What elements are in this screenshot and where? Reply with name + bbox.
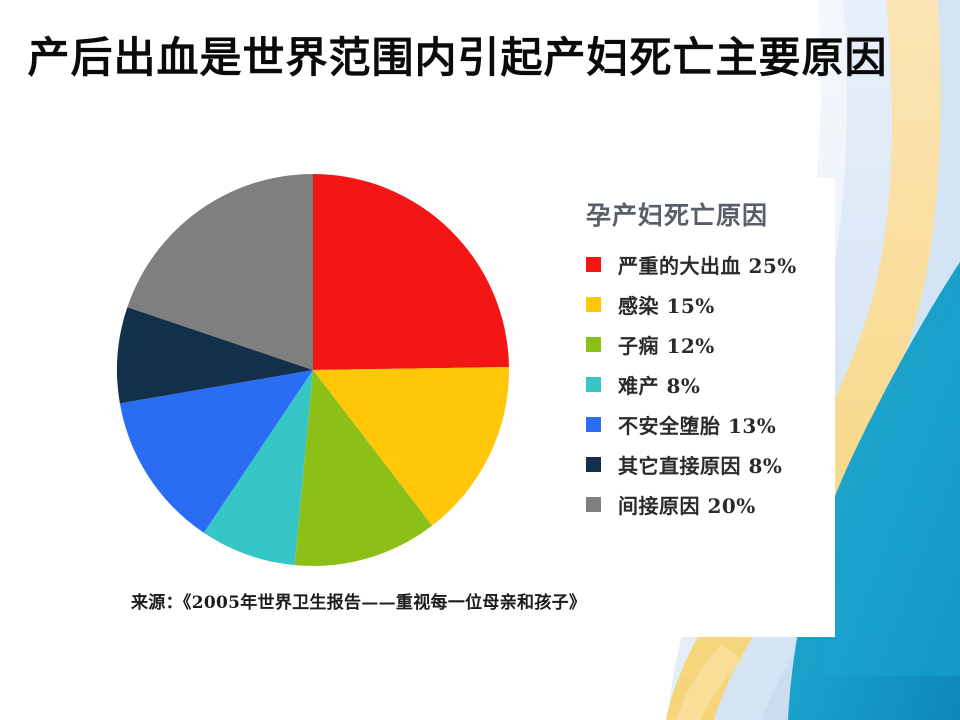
legend-swatch-indirect-causes xyxy=(586,497,601,512)
legend-swatch-obstructed-labour xyxy=(586,377,601,392)
pie-chart xyxy=(103,160,523,580)
legend-title: 孕产妇死亡原因 xyxy=(586,196,846,232)
legend-item-obstructed-labour[interactable]: 难产 8% xyxy=(586,364,846,404)
legend-label-severe-bleeding: 严重的大出血 25% xyxy=(618,250,797,279)
chart-legend: 孕产妇死亡原因 严重的大出血 25%感染 15%子痫 12%难产 8%不安全堕胎… xyxy=(586,196,846,524)
legend-item-eclampsia[interactable]: 子痫 12% xyxy=(586,324,846,364)
legend-swatch-unsafe-abortion xyxy=(586,417,601,432)
legend-swatch-severe-bleeding xyxy=(586,257,601,272)
legend-label-eclampsia: 子痫 12% xyxy=(618,330,715,359)
legend-item-severe-bleeding[interactable]: 严重的大出血 25% xyxy=(586,244,846,284)
legend-swatch-eclampsia xyxy=(586,337,601,352)
legend-item-infection[interactable]: 感染 15% xyxy=(586,284,846,324)
legend-label-unsafe-abortion: 不安全堕胎 13% xyxy=(618,410,776,439)
slide-title: 产后出血是世界范围内引起产妇死亡主要原因 xyxy=(0,34,915,82)
legend-swatch-infection xyxy=(586,297,601,312)
legend-label-obstructed-labour: 难产 8% xyxy=(618,370,700,399)
pie-slices xyxy=(117,174,509,566)
legend-rows: 严重的大出血 25%感染 15%子痫 12%难产 8%不安全堕胎 13%其它直接… xyxy=(586,244,846,524)
pie-chart-svg xyxy=(103,160,523,580)
chart-image-panel: 孕产妇死亡原因 严重的大出血 25%感染 15%子痫 12%难产 8%不安全堕胎… xyxy=(103,178,835,637)
legend-label-indirect-causes: 间接原因 20% xyxy=(618,490,756,519)
legend-label-infection: 感染 15% xyxy=(618,290,715,319)
legend-item-unsafe-abortion[interactable]: 不安全堕胎 13% xyxy=(586,404,846,444)
presentation-slide: 产后出血是世界范围内引起产妇死亡主要原因 孕产妇死亡原因 严重的大出血 25%感… xyxy=(0,0,960,720)
legend-item-indirect-causes[interactable]: 间接原因 20% xyxy=(586,484,846,524)
chart-source-note: 来源：《2005年世界卫生报告——重视每一位母亲和孩子》 xyxy=(131,588,586,613)
pie-slice-severe-bleeding[interactable] xyxy=(313,174,509,370)
legend-label-other-direct-causes: 其它直接原因 8% xyxy=(618,450,782,479)
deco-gold-flick xyxy=(676,644,742,720)
legend-swatch-other-direct-causes xyxy=(586,457,601,472)
legend-item-other-direct-causes[interactable]: 其它直接原因 8% xyxy=(586,444,846,484)
